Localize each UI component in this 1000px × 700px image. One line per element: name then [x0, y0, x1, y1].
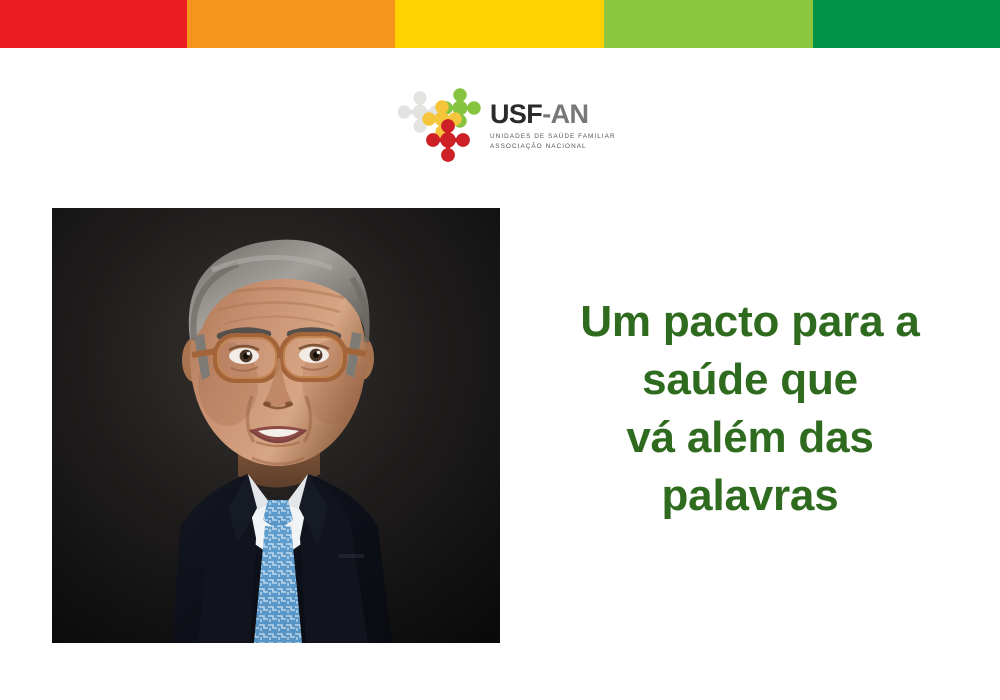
- color-band-orange: [187, 0, 395, 48]
- main-headline: Um pacto para a saúde que vá além das pa…: [520, 293, 980, 525]
- headline-line-3: vá além das: [520, 409, 980, 467]
- logo-wordmark-secondary: -AN: [542, 99, 588, 129]
- headline-line-1: Um pacto para a: [520, 293, 980, 351]
- usf-an-logo[interactable]: USF-AN UNIDADES DE SAÚDE FAMILIAR ASSOCI…: [398, 88, 604, 166]
- logo-wordmark-primary: USF: [490, 99, 542, 129]
- logo-subtitle-line-2: ASSOCIAÇÃO NACIONAL: [490, 142, 604, 152]
- molecule-nodes-icon: [398, 88, 490, 166]
- color-band-red: [0, 0, 187, 48]
- logo-subtitle-line-1: UNIDADES DE SAÚDE FAMILIAR: [490, 132, 604, 142]
- color-band-light-green: [604, 0, 813, 48]
- headline-line-4: palavras: [520, 467, 980, 525]
- headline-line-2: saúde que: [520, 351, 980, 409]
- color-band-dark-green: [813, 0, 1000, 48]
- logo-wordmark: USF-AN: [490, 101, 604, 128]
- brand-color-bar: [0, 0, 1000, 48]
- color-band-yellow: [395, 0, 604, 48]
- portrait-photo: [52, 208, 500, 643]
- logo-text-block: USF-AN UNIDADES DE SAÚDE FAMILIAR ASSOCI…: [490, 101, 604, 151]
